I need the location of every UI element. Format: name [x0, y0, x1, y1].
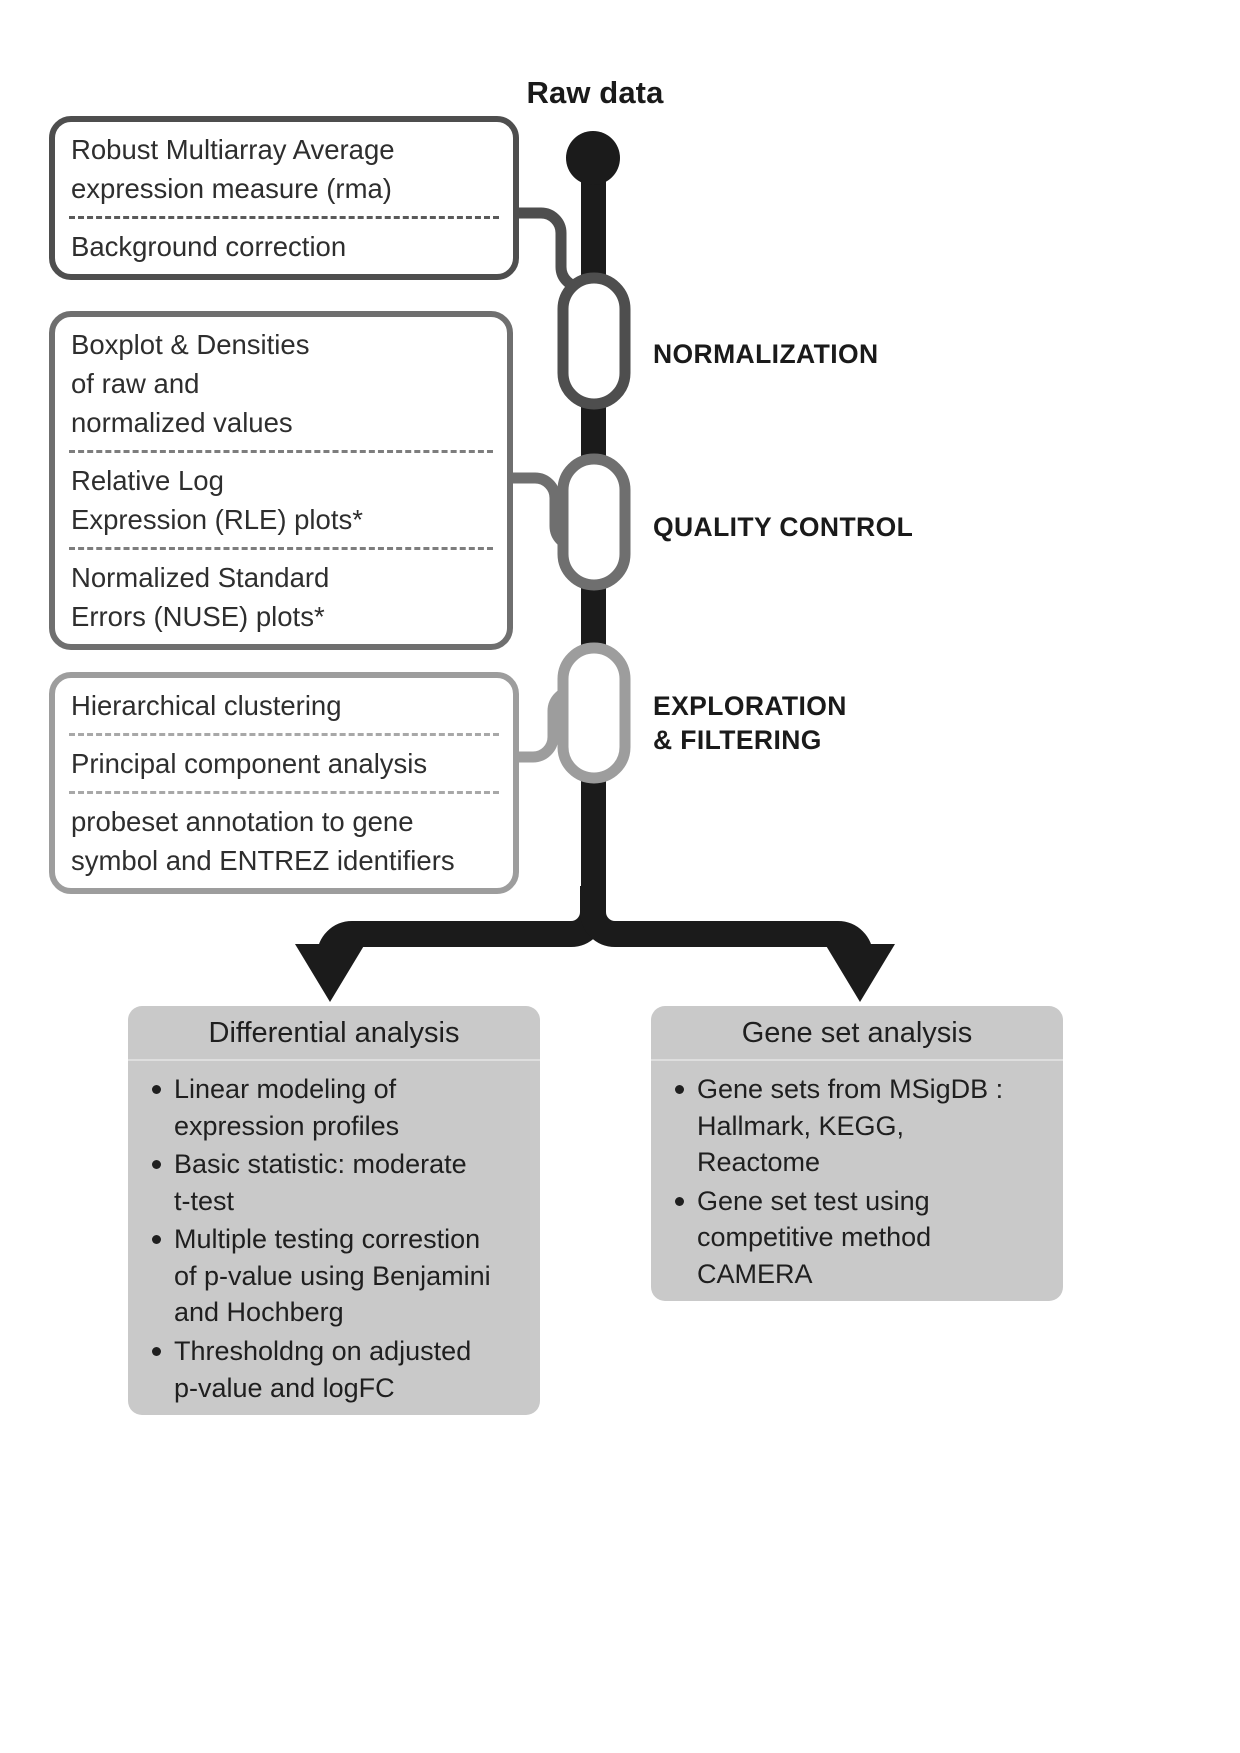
arrow-right [825, 944, 895, 1002]
stage-item-text: Background correction [71, 227, 499, 266]
stage-label-exploration: EXPLORATION & FILTERING [653, 690, 847, 758]
capsule-quality-control [563, 459, 625, 585]
stage-item: Boxplot & Densities of raw and normalize… [55, 317, 507, 450]
arrow-left [295, 944, 365, 1002]
stage-item: probeset annotation to gene symbol and E… [55, 794, 513, 888]
list-item: Multiple testing correstion of p-value u… [148, 1221, 524, 1331]
capsule-exploration [563, 648, 625, 778]
stage-item: Background correction [55, 219, 513, 274]
workflow-diagram: Raw data Robust Multiarray Average expre… [0, 0, 1240, 1753]
stage-item-text: Hierarchical clustering [71, 686, 499, 725]
output-header: Differential analysis [128, 1006, 540, 1059]
stage-box-normalization: Robust Multiarray Average expression mea… [49, 116, 519, 280]
output-box-differential-analysis: Differential analysis Linear modeling of… [128, 1006, 540, 1415]
list-item: Gene set test using competitive method C… [671, 1183, 1047, 1293]
stage-item-text: Principal component analysis [71, 744, 499, 783]
stage-item-text: Normalized Standard Errors (NUSE) plots* [71, 558, 493, 636]
output-bullet-list: Gene sets from MSigDB : Hallmark, KEGG, … [651, 1061, 1063, 1301]
stage-item-text: Boxplot & Densities of raw and normalize… [71, 325, 493, 442]
raw-data-node [566, 131, 620, 185]
stage-item: Robust Multiarray Average expression mea… [55, 122, 513, 216]
list-item: Linear modeling of expression profiles [148, 1071, 524, 1144]
stage-item-text: Relative Log Expression (RLE) plots* [71, 461, 493, 539]
stage-label-normalization: NORMALIZATION [653, 338, 879, 372]
list-item: Gene sets from MSigDB : Hallmark, KEGG, … [671, 1071, 1047, 1181]
connector-quality-control [513, 459, 625, 585]
stage-item: Relative Log Expression (RLE) plots* [55, 453, 507, 547]
raw-data-title: Raw data [430, 75, 760, 111]
list-item: Thresholdng on adjusted p-value and logF… [148, 1333, 524, 1406]
capsule-normalization [563, 278, 625, 404]
output-box-gene-set-analysis: Gene set analysis Gene sets from MSigDB … [651, 1006, 1063, 1301]
stage-label-quality-control: QUALITY CONTROL [653, 511, 913, 545]
branch-arrows [295, 886, 895, 1002]
stage-item: Principal component analysis [55, 736, 513, 791]
output-header: Gene set analysis [651, 1006, 1063, 1059]
list-item: Basic statistic: moderate t-test [148, 1146, 524, 1219]
connector-normalization [519, 213, 625, 404]
stage-item-text: Robust Multiarray Average expression mea… [71, 130, 499, 208]
output-bullet-list: Linear modeling of expression profiles B… [128, 1061, 540, 1415]
stage-box-quality-control: Boxplot & Densities of raw and normalize… [49, 311, 513, 650]
connector-exploration [519, 648, 625, 778]
stage-item-text: probeset annotation to gene symbol and E… [71, 802, 499, 880]
stage-item: Hierarchical clustering [55, 678, 513, 733]
stage-item: Normalized Standard Errors (NUSE) plots* [55, 550, 507, 644]
stage-box-exploration: Hierarchical clustering Principal compon… [49, 672, 519, 894]
